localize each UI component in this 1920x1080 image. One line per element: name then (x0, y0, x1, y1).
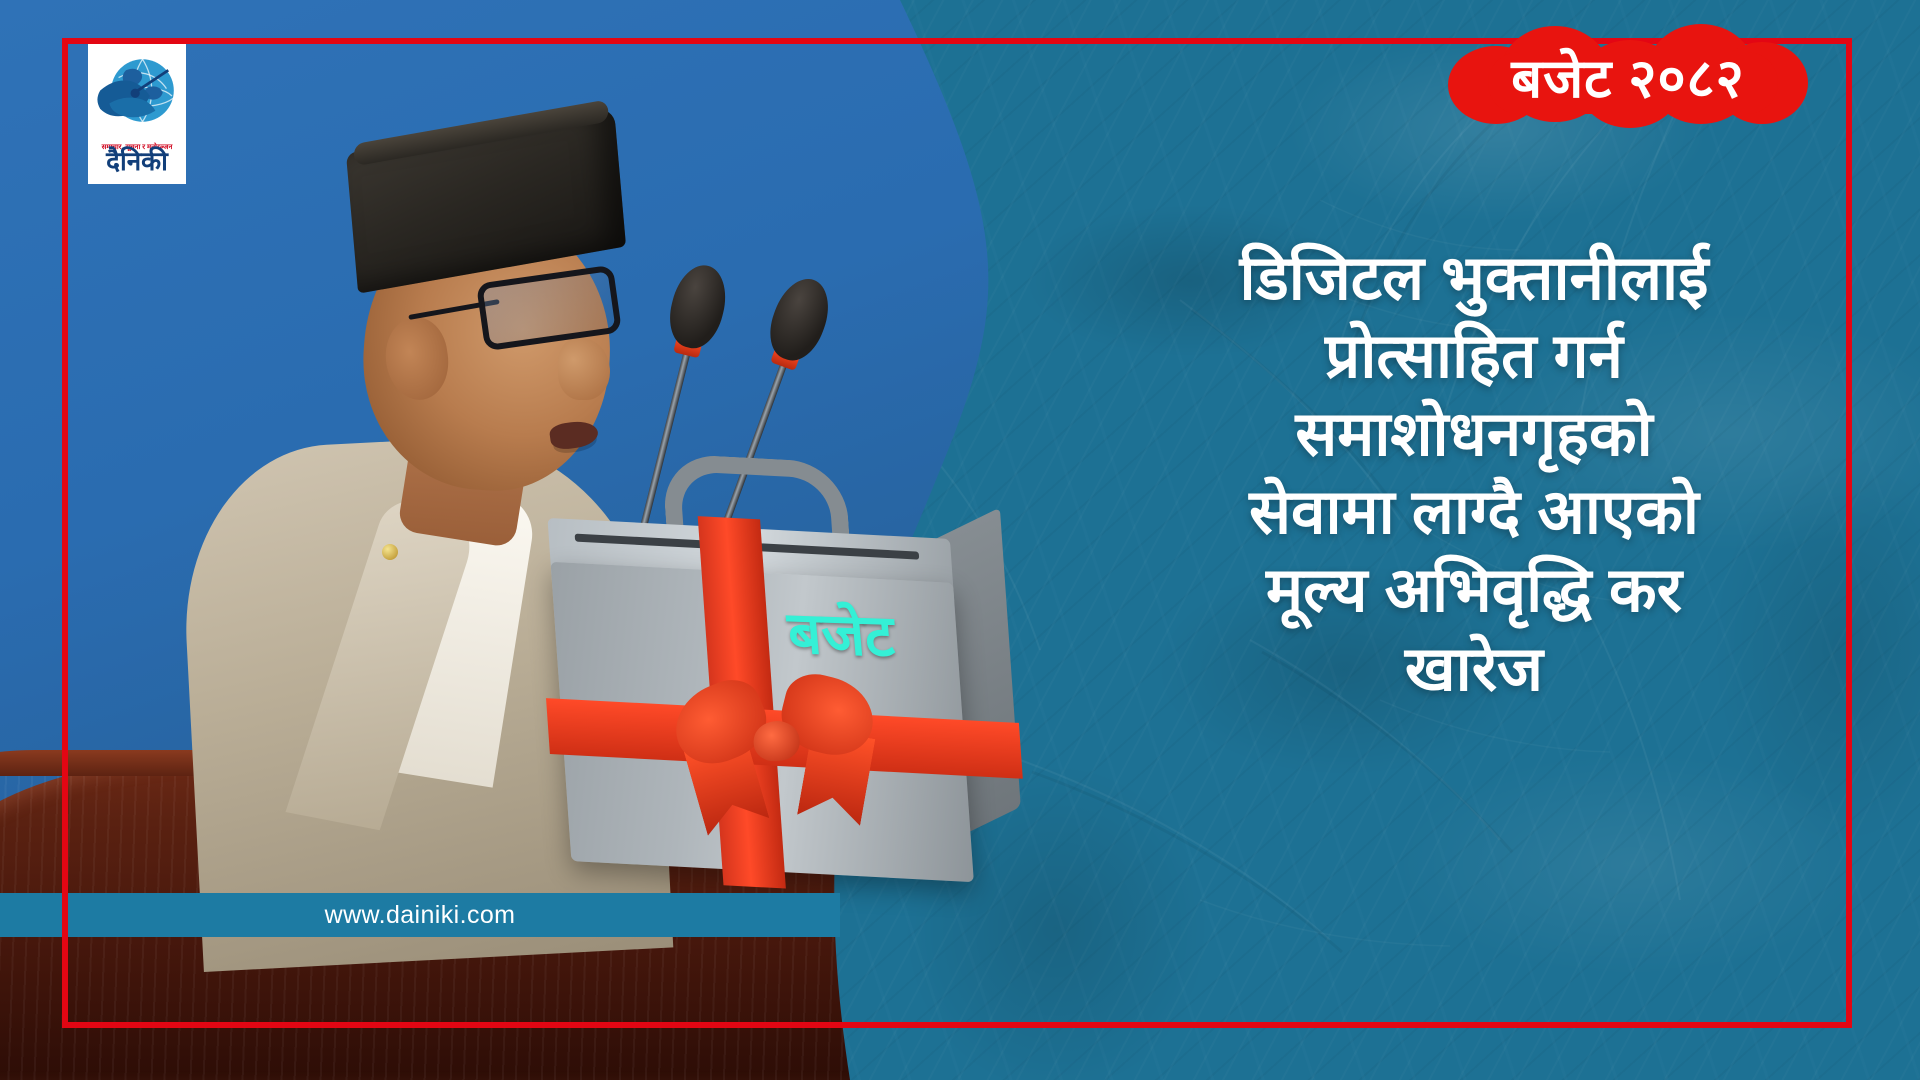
bow-loop-left (663, 670, 777, 775)
dainiki-logo[interactable]: समाचार, सूचना र मनोरञ्जन दैनिकी (88, 44, 186, 184)
headline-line-5: मूल्य अभिवृद्धि कर (1124, 552, 1824, 630)
ribbon-bow-icon (671, 668, 881, 832)
globe-dove-icon (91, 48, 183, 144)
lapel-pin (382, 544, 398, 560)
briefcase-label: बजेट (784, 590, 897, 673)
headline-line-2: प्रोत्साहित गर्न (1124, 318, 1824, 396)
logo-wordmark: दैनिकी (106, 148, 168, 174)
headline-line-6: खारेज (1124, 631, 1824, 709)
headline-line-4: सेवामा लाग्दै आएको (1124, 474, 1824, 552)
budget-year-badge: बजेट २०८२ (1448, 22, 1808, 130)
website-url-strip[interactable]: www.dainiki.com (0, 893, 840, 937)
headline-line-1: डिजिटल भुक्तानीलाई (1124, 240, 1824, 318)
poster-canvas: बजेट डिजिटल भुक्तानीलाई प्रोत्साहित गर्न… (0, 0, 1920, 1080)
badge-label: बजेट २०८२ (1448, 22, 1808, 130)
headline-line-3: समाशोधनगृहको (1124, 396, 1824, 474)
budget-briefcase-icon: बजेट (546, 461, 1005, 920)
website-url: www.dainiki.com (325, 901, 516, 930)
headline: डिजिटल भुक्तानीलाई प्रोत्साहित गर्न समाश… (1124, 240, 1824, 709)
